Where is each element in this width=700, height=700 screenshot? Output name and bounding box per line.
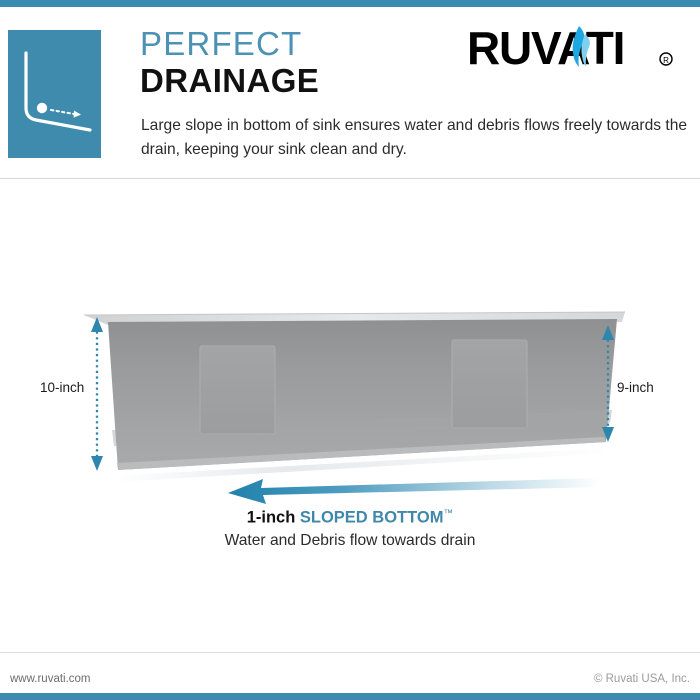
sink-body bbox=[108, 319, 617, 470]
sound-guard-pad-right bbox=[452, 340, 527, 428]
header-divider bbox=[0, 178, 700, 179]
page-title: PERFECT DRAINAGE bbox=[140, 26, 480, 100]
top-accent-bar bbox=[0, 0, 700, 7]
footer-website[interactable]: www.ruvati.com bbox=[10, 673, 91, 685]
sloped-bottom-caption: 1-inch SLOPED BOTTOM™ bbox=[0, 508, 700, 528]
dimension-label-left: 10-inch bbox=[40, 380, 84, 395]
footer-divider bbox=[0, 652, 700, 653]
sloped-bottom-subtitle: Water and Debris flow towards drain bbox=[0, 532, 700, 550]
dimension-label-right: 9-inch bbox=[617, 380, 654, 395]
page-title-line2: DRAINAGE bbox=[140, 62, 480, 100]
sound-guard-pad-left bbox=[200, 346, 275, 434]
sink-diagram bbox=[0, 290, 700, 505]
footer-copyright: © Ruvati USA, Inc. bbox=[594, 673, 690, 685]
trademark-mark: ™ bbox=[444, 508, 454, 519]
flow-direction-arrow bbox=[228, 478, 601, 504]
bottom-accent-bar bbox=[0, 693, 700, 700]
marketing-infographic-page: PERFECT DRAINAGE RUVATI R Large slope in… bbox=[0, 0, 700, 700]
page-title-line1: PERFECT bbox=[140, 26, 480, 62]
dimension-line-left bbox=[91, 317, 103, 471]
registered-mark: R bbox=[663, 56, 669, 65]
ruvati-logo: RUVATI R bbox=[467, 22, 682, 80]
sloped-sink-profile-icon bbox=[8, 30, 101, 158]
caption-measure: 1-inch bbox=[247, 509, 296, 527]
caption-feature: SLOPED BOTTOM bbox=[300, 509, 444, 527]
header-description: Large slope in bottom of sink ensures wa… bbox=[141, 114, 693, 162]
ruvati-wordmark: RUVATI bbox=[467, 22, 624, 74]
